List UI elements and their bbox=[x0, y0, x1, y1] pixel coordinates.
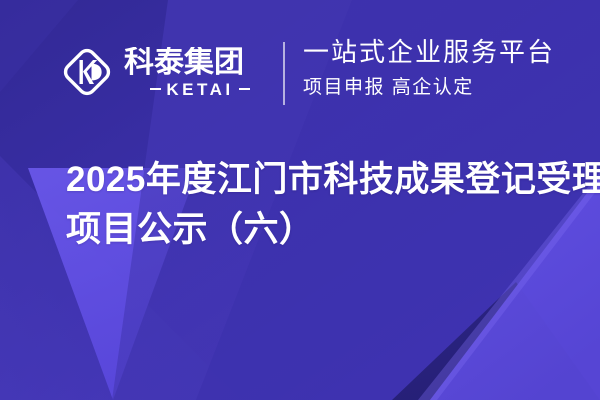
header-divider bbox=[283, 42, 285, 105]
ketai-diamond-monogram-icon bbox=[60, 45, 114, 99]
tagline-block: 一站式企业服务平台 项目申报 高企认定 bbox=[303, 38, 555, 100]
logo-company-name-cn: 科泰集团 bbox=[124, 47, 276, 78]
logo-dash-right bbox=[239, 88, 250, 91]
logo-wordmark: 科泰集团 KETAI bbox=[124, 47, 276, 98]
logo-company-name-cn-text: 科泰集团 bbox=[124, 47, 244, 78]
tagline-main: 一站式企业服务平台 bbox=[303, 38, 555, 68]
announcement-banner: 科泰集团 KETAI 一站式企业服务平台 项目申报 高企认定 2025年度江门市… bbox=[0, 0, 600, 400]
page-title-line-1: 2025年度江门市科技成果登记受理 bbox=[66, 155, 576, 205]
page-title: 2025年度江门市科技成果登记受理 项目公示（六） bbox=[66, 155, 576, 254]
logo-company-name-en: KETAI bbox=[161, 81, 238, 98]
brand-row: 科泰集团 KETAI bbox=[60, 36, 276, 108]
page-title-line-2: 项目公示（六） bbox=[66, 205, 576, 255]
tagline-sub: 项目申报 高企认定 bbox=[303, 77, 555, 100]
logo-en-row: KETAI bbox=[124, 81, 276, 98]
logo-dash-left bbox=[150, 88, 161, 91]
